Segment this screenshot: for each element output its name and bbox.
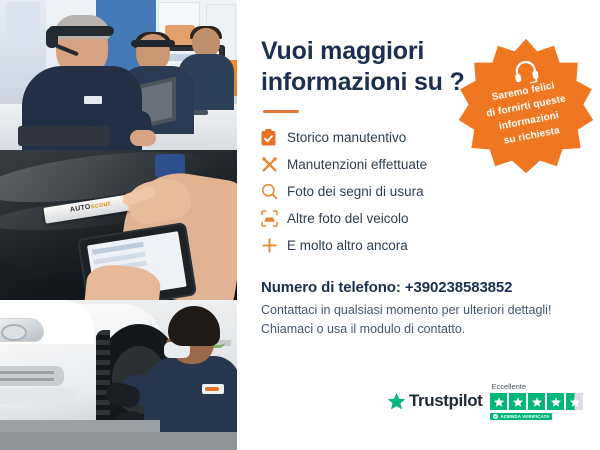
feature-label: Manutenzioni effettuate xyxy=(287,157,427,172)
call-center-photo xyxy=(0,0,237,150)
verified-business-label: AZIENDA VERIFICATA xyxy=(500,414,549,419)
trustpilot-wordmark: Trustpilot xyxy=(409,391,482,411)
plus-icon xyxy=(261,237,287,254)
star-filled xyxy=(490,393,507,410)
paint-gauge-photo: AUTOscout xyxy=(0,150,237,300)
clipboard-check-icon xyxy=(261,129,287,146)
feature-label: Foto dei segni di usura xyxy=(287,184,424,199)
star-half xyxy=(566,393,583,410)
trustpilot-stars xyxy=(490,393,583,410)
promo-card: AUTOscout Vuoi maggiori informazioni su … xyxy=(0,0,600,450)
verified-business-badge: AZIENDA VERIFICATA xyxy=(490,413,552,420)
star-filled xyxy=(528,393,545,410)
title-underline-accent xyxy=(263,110,299,113)
trustpilot-score: Eccellente AZIENDA VERIFICATA xyxy=(490,382,583,420)
feature-item-foto-segni-usura: Foto dei segni di usura xyxy=(261,178,578,205)
phone-number[interactable]: +390238583852 xyxy=(405,279,513,296)
content-panel: Vuoi maggiori informazioni su ? Saremo f… xyxy=(237,0,600,450)
check-circle-icon xyxy=(493,414,498,419)
trustpilot-logo: Trustpilot xyxy=(387,382,482,411)
phone-line: Numero di telefono: +390238583852 xyxy=(261,279,578,296)
trustpilot-rating-word: Eccellente xyxy=(491,382,526,391)
star-filled xyxy=(547,393,564,410)
crossed-tools-icon xyxy=(261,156,287,173)
trustpilot-star-icon xyxy=(387,392,406,411)
contact-subtext-line-2: Chiamaci o usa il modulo di contatto. xyxy=(261,322,465,336)
contact-block: Numero di telefono: +390238583852 Contat… xyxy=(261,279,578,339)
headline-line-1: Vuoi maggiori xyxy=(261,37,424,65)
contact-subtext-line-1: Contattaci in qualsiasi momento per ulte… xyxy=(261,303,551,317)
phone-label: Numero di telefono: xyxy=(261,279,401,296)
car-focus-icon xyxy=(261,210,287,227)
photo-column: AUTOscout xyxy=(0,0,237,450)
magnifier-icon xyxy=(261,183,287,200)
feature-item-altre-foto-veicolo: Altre foto del veicolo xyxy=(261,205,578,232)
trustpilot-rating[interactable]: Trustpilot Eccellente AZIENDA VERIFICA xyxy=(387,382,583,420)
star-filled xyxy=(509,393,526,410)
headline-line-2: informazioni su ? xyxy=(261,68,465,96)
contact-subtext: Contattaci in qualsiasi momento per ulte… xyxy=(261,301,578,339)
feature-label: E molto altro ancora xyxy=(287,238,408,253)
feature-item-molto-altro: E molto altro ancora xyxy=(261,232,578,259)
feature-label: Storico manutentivo xyxy=(287,130,406,145)
request-info-badge: Saremo felici di fornirti queste informa… xyxy=(456,36,596,176)
feature-label: Altre foto del veicolo xyxy=(287,211,409,226)
badge-text: Saremo felici di fornirti queste informa… xyxy=(444,24,600,188)
wheel-service-photo xyxy=(0,300,237,450)
